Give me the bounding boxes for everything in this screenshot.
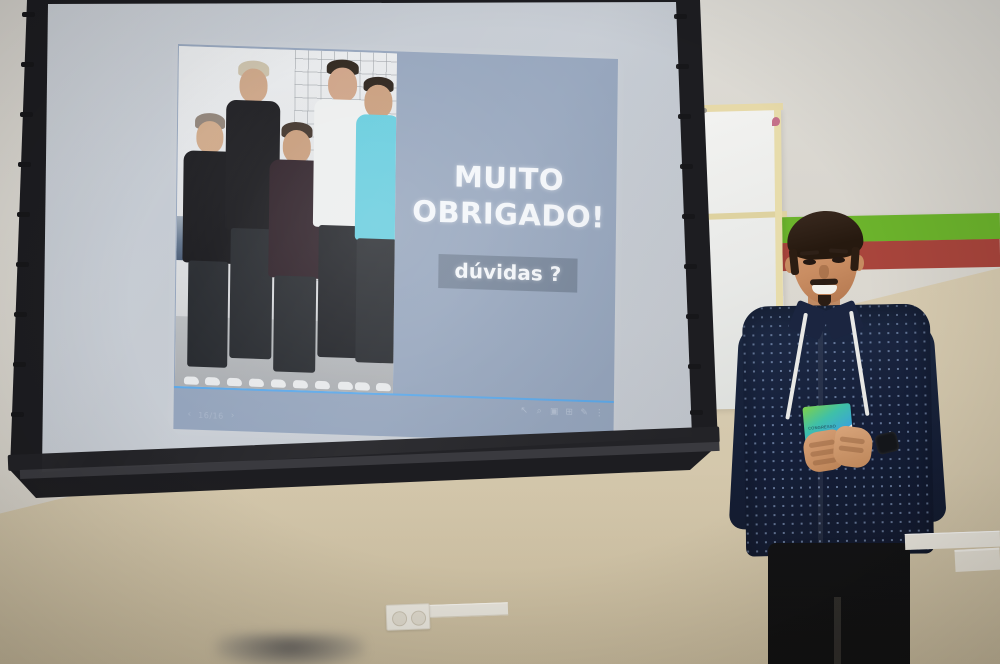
- presenter-soul-patch: [818, 295, 831, 306]
- presenter-hand-right: [832, 425, 875, 469]
- slide-heading-line2: OBRIGADO!: [412, 195, 605, 234]
- slide-counter: 16/16: [198, 410, 224, 420]
- zoom-icon[interactable]: ⌕: [535, 406, 544, 415]
- slide-subheading-box: dúvidas ?: [438, 254, 577, 293]
- board-corner-marker-icon: [772, 117, 780, 126]
- prev-slide-button[interactable]: ‹: [188, 409, 192, 419]
- slide-toolbar[interactable]: ↖ ⌕ ▣ ⊞ ✎ ⋮: [520, 406, 604, 418]
- trouser-leg-gap: [834, 597, 841, 664]
- wall-power-outlet: [386, 603, 431, 631]
- surface-conduit: [428, 602, 508, 618]
- presenter-nose: [819, 265, 829, 279]
- wall-ledge: [905, 531, 1000, 550]
- presenter-mouth: [812, 285, 837, 294]
- projection-screen: MUITO OBRIGADO! dúvidas ? ↖ ⌕ ▣ ⊞ ✎ ⋮: [0, 0, 720, 520]
- screen-hooks-right: [0, 0, 20, 520]
- photo-person: [353, 60, 397, 391]
- presenter-eye-right: [832, 257, 845, 263]
- slide-photo: [175, 46, 397, 393]
- pen-icon[interactable]: ✎: [580, 408, 589, 417]
- slide-canvas: MUITO OBRIGADO! dúvidas ? ↖ ⌕ ▣ ⊞ ✎ ⋮: [173, 44, 618, 444]
- presenter-sideburn-right: [850, 247, 860, 271]
- grid-icon[interactable]: ⊞: [565, 407, 574, 416]
- table-edge: [954, 548, 1000, 572]
- slide-heading-line1: MUITO: [454, 160, 565, 196]
- slide-text-block: MUITO OBRIGADO! dúvidas ?: [399, 52, 618, 401]
- slide-subheading: dúvidas ?: [454, 259, 561, 287]
- more-icon[interactable]: ⋮: [595, 408, 604, 417]
- pointer-icon[interactable]: ↖: [520, 406, 529, 415]
- presenter-eye-left: [803, 259, 816, 265]
- presentation-scene: MUITO OBRIGADO! dúvidas ? ↖ ⌕ ▣ ⊞ ✎ ⋮: [0, 0, 1000, 664]
- presenter: CONGRESSO: [730, 205, 960, 664]
- next-slide-button[interactable]: ›: [231, 411, 235, 421]
- foreground-object: [215, 634, 365, 664]
- screen-icon[interactable]: ▣: [550, 407, 559, 416]
- slide-navigation[interactable]: ‹ 16/16 ›: [188, 409, 235, 421]
- projected-slide: MUITO OBRIGADO! dúvidas ? ↖ ⌕ ▣ ⊞ ✎ ⋮: [173, 44, 618, 444]
